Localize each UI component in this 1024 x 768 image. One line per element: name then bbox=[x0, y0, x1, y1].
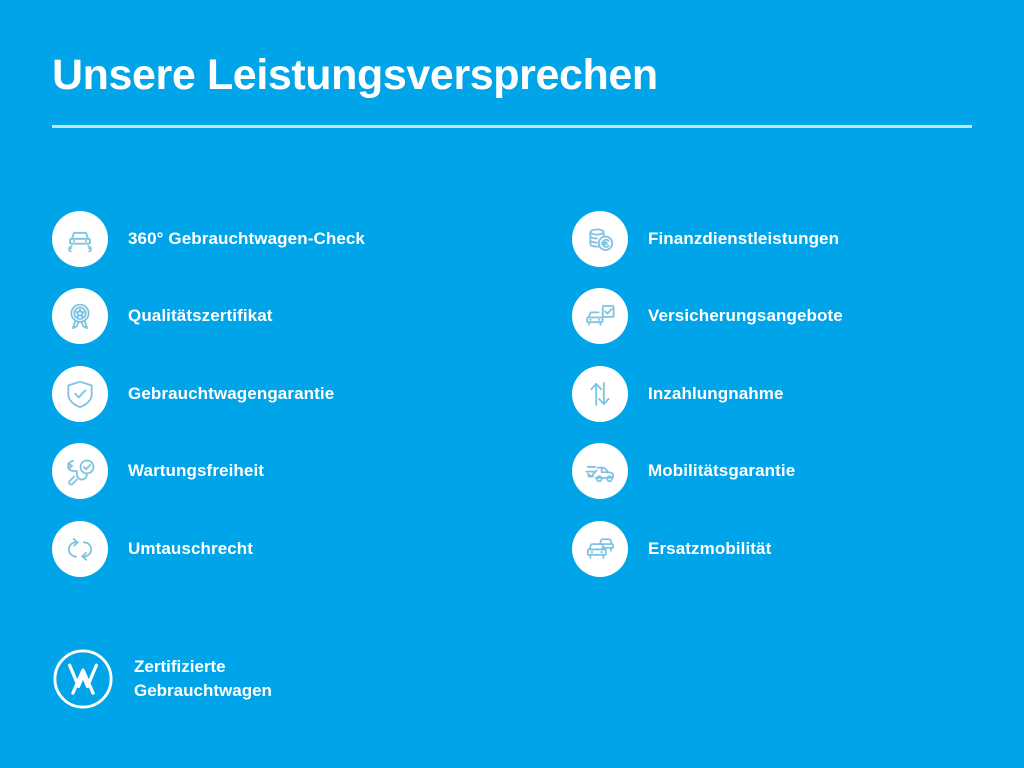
volkswagen-logo-icon bbox=[52, 648, 114, 710]
feature-label: Inzahlungnahme bbox=[648, 384, 784, 404]
two-cars-icon bbox=[572, 521, 628, 577]
feature-label: Versicherungsangebote bbox=[648, 306, 843, 326]
slide-canvas: Unsere Leistungsversprechen 360° Gebrauc… bbox=[0, 0, 1024, 768]
feature-item: Finanzdienstleistungen bbox=[572, 200, 972, 278]
feature-label: Finanzdienstleistungen bbox=[648, 229, 839, 249]
car-motion-icon bbox=[572, 443, 628, 499]
coins-euro-icon bbox=[572, 211, 628, 267]
feature-item: Mobilitätsgarantie bbox=[572, 433, 972, 511]
brand-text: Zertifizierte Gebrauchtwagen bbox=[134, 655, 272, 703]
award-rosette-icon bbox=[52, 288, 108, 344]
car-clipboard-check-icon bbox=[572, 288, 628, 344]
feature-item: 360° Gebrauchtwagen-Check bbox=[52, 200, 572, 278]
shield-check-icon bbox=[52, 366, 108, 422]
brand-lockup: Zertifizierte Gebrauchtwagen bbox=[52, 648, 272, 710]
title-divider bbox=[52, 125, 972, 128]
arrows-up-down-icon bbox=[572, 366, 628, 422]
feature-label: Gebrauchtwagengarantie bbox=[128, 384, 334, 404]
feature-label: Qualitätszertifikat bbox=[128, 306, 273, 326]
car-360-check-icon bbox=[52, 211, 108, 267]
feature-item: Ersatzmobilität bbox=[572, 510, 972, 588]
exchange-arrows-icon bbox=[52, 521, 108, 577]
feature-item: Qualitätszertifikat bbox=[52, 278, 572, 356]
feature-item: Gebrauchtwagengarantie bbox=[52, 355, 572, 433]
feature-label: 360° Gebrauchtwagen-Check bbox=[128, 229, 365, 249]
brand-text-line2: Gebrauchtwagen bbox=[134, 681, 272, 700]
feature-item: Wartungsfreiheit bbox=[52, 433, 572, 511]
feature-label: Ersatzmobilität bbox=[648, 539, 771, 559]
feature-item: Versicherungsangebote bbox=[572, 278, 972, 356]
brand-text-line1: Zertifizierte bbox=[134, 657, 226, 676]
feature-label: Umtauschrecht bbox=[128, 539, 253, 559]
feature-label: Wartungsfreiheit bbox=[128, 461, 264, 481]
slide-header: Unsere Leistungsversprechen bbox=[52, 52, 972, 128]
wrench-check-icon bbox=[52, 443, 108, 499]
feature-item: Inzahlungnahme bbox=[572, 355, 972, 433]
feature-label: Mobilitätsgarantie bbox=[648, 461, 795, 481]
feature-grid: 360° Gebrauchtwagen-Check Finanzdienstle… bbox=[52, 200, 972, 588]
feature-item: Umtauschrecht bbox=[52, 510, 572, 588]
page-title: Unsere Leistungsversprechen bbox=[52, 52, 972, 98]
